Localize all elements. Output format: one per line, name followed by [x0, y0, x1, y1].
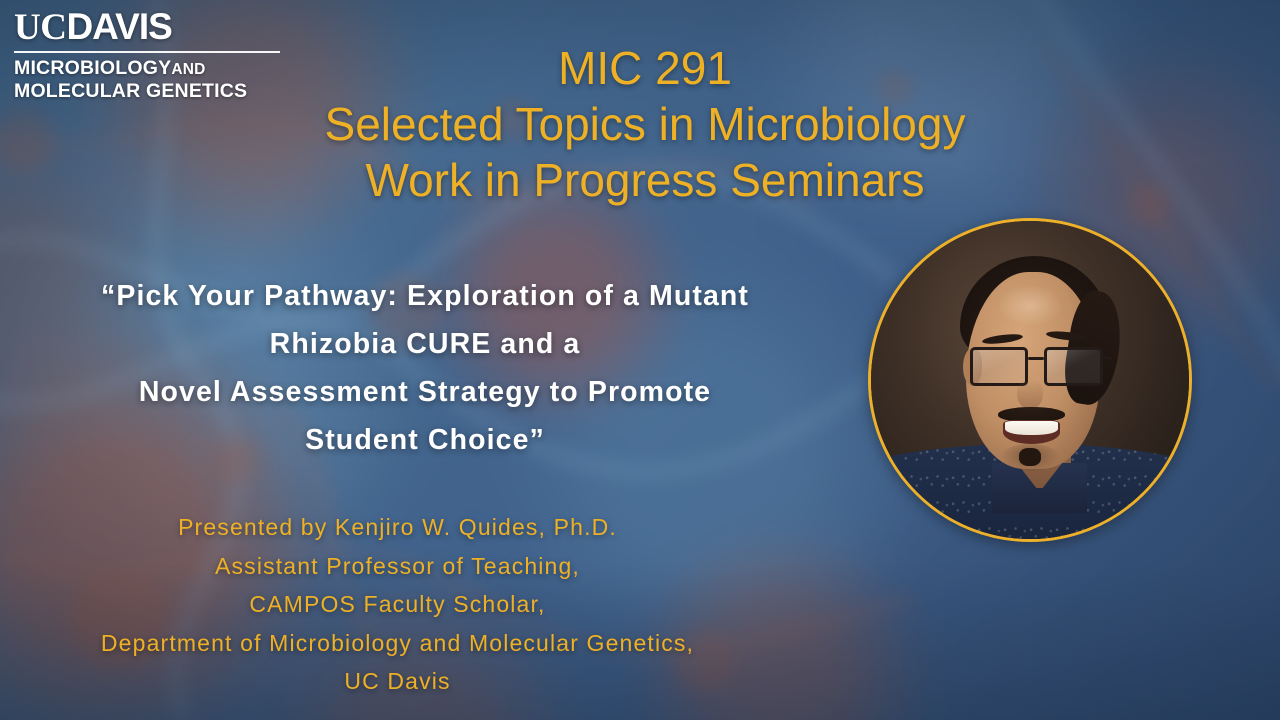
presenter-scholar: CAMPOS Faculty Scholar, [10, 585, 785, 624]
portrait-glasses-lens-right [1044, 347, 1103, 387]
logo-department-and: AND [171, 61, 205, 78]
portrait-photo [871, 221, 1189, 539]
portrait-mouth [1003, 420, 1060, 444]
talk-title-line-3: Novel Assessment Strategy to Promote [10, 368, 840, 416]
seminar-slide: UCDAVIS MICROBIOLOGYANDMOLECULAR GENETIC… [0, 0, 1280, 720]
presenter-institution: UC Davis [10, 662, 785, 701]
course-name: Selected Topics in Microbiology [250, 96, 1040, 152]
presenter-details: Presented by Kenjiro W. Quides, Ph.D. As… [10, 508, 785, 701]
logo-divider-rule [14, 51, 280, 53]
logo-department-line2: MOLECULAR GENETICS [14, 80, 247, 102]
course-title: MIC 291 Selected Topics in Microbiology … [250, 40, 1040, 208]
presenter-title: Assistant Professor of Teaching, [10, 547, 785, 586]
uc-davis-logo: UCDAVIS MICROBIOLOGYANDMOLECULAR GENETIC… [14, 8, 280, 102]
logo-davis-text: DAVIS [66, 6, 171, 47]
logo-department-line1: MICROBIOLOGY [14, 57, 171, 79]
portrait-teeth [1005, 421, 1058, 435]
talk-title-line-2: Rhizobia CURE and a [10, 320, 840, 368]
uc-davis-wordmark: UCDAVIS [14, 8, 280, 47]
portrait-glasses-lens-left [970, 347, 1029, 387]
portrait-nose [1017, 380, 1042, 409]
portrait-chin-shadow [1001, 444, 1058, 473]
presenter-portrait [868, 218, 1192, 542]
course-code: MIC 291 [250, 40, 1040, 96]
talk-title-line-4: Student Choice” [10, 416, 840, 464]
portrait-glasses-bridge [1028, 357, 1044, 360]
course-series: Work in Progress Seminars [250, 152, 1040, 208]
logo-department: MICROBIOLOGYANDMOLECULAR GENETICS [14, 58, 280, 102]
talk-title: “Pick Your Pathway: Exploration of a Mut… [10, 272, 840, 464]
logo-uc-text: UC [14, 7, 66, 48]
presenter-name: Presented by Kenjiro W. Quides, Ph.D. [10, 508, 785, 547]
presenter-department: Department of Microbiology and Molecular… [10, 624, 785, 663]
talk-title-line-1: “Pick Your Pathway: Exploration of a Mut… [10, 272, 840, 320]
portrait-forehead-highlight [998, 285, 1062, 326]
